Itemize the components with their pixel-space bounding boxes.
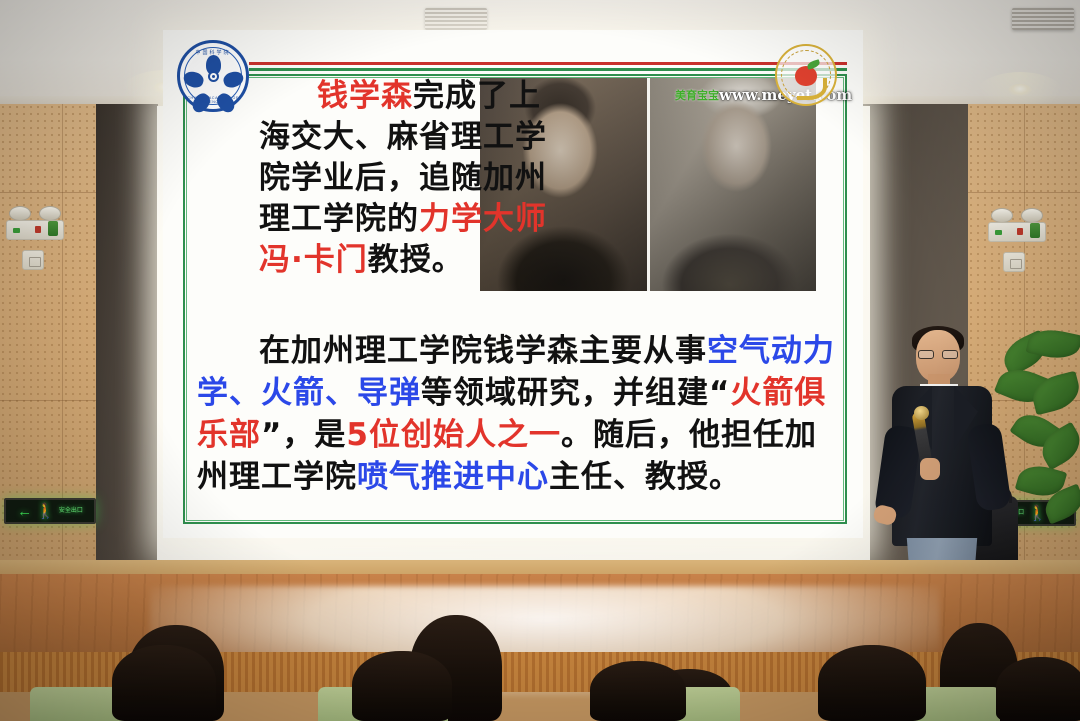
ceiling-vent [425, 8, 487, 30]
exit-sign-left-label: 安全出口 [59, 508, 83, 515]
slide-paragraph-2: 在加州理工学院钱学森主要从事空气动力学、火箭、导弹等领域研究，并组建“火箭俱乐部… [197, 330, 837, 498]
audience-head [590, 661, 686, 721]
p2-run-0: 在加州理工学院钱学森主要从事 [259, 333, 707, 369]
ceiling-downlight [1008, 84, 1032, 96]
p1-run-0: 钱学森 [317, 78, 413, 114]
p2-run-8: 主任、教授。 [549, 459, 741, 495]
exit-sign-left: ← 🚶 安全出口 [4, 498, 96, 524]
wall-socket-left [22, 250, 44, 270]
lecture-hall-scene: ← 🚶 安全出口 安全出口 🚶 → 中国科学院 [0, 0, 1080, 721]
slide-paragraph-1: 钱学森完成了上海交大、麻省理工学院学业后，追随加州理工学院的力学大师冯·卡门教授… [259, 76, 559, 281]
p2-run-2: 等领域研究，并组建“ [421, 375, 730, 411]
wall-socket-right [1003, 252, 1025, 272]
audience-head [112, 645, 216, 721]
microphone-head [914, 406, 929, 420]
academy-logo-bottom-text: CHINESE ACADEMY OF SCIENCES [180, 96, 246, 104]
left-dark-panel [96, 104, 158, 578]
presenter-hand [920, 458, 940, 480]
p2-run-4: ”，是 [261, 417, 346, 453]
slide-border-green-top [249, 68, 847, 71]
arrow-left-icon: ← [17, 504, 32, 519]
slide-border-red [249, 62, 847, 65]
emergency-light-right [988, 208, 1046, 242]
glasses-icon [918, 350, 958, 359]
audience-head [818, 645, 926, 721]
audience-head [996, 657, 1080, 721]
p2-run-5: 5位创始人之一 [346, 417, 561, 453]
audience-head [352, 651, 452, 721]
running-person-icon: 🚶 [36, 504, 55, 519]
p1-run-3: 教授。 [368, 242, 464, 278]
flower-atom-icon [192, 55, 234, 97]
p2-run-7: 喷气推进中心 [357, 459, 549, 495]
apple-badge-icon [775, 44, 837, 106]
academy-logo: 中国科学院 CHINESE ACADEMY OF SCIENCES [177, 40, 249, 112]
emergency-light-left [6, 206, 64, 240]
ceiling-vent [1012, 8, 1074, 30]
presentation-slide: 中国科学院 CHINESE ACADEMY OF SCIENCES 美育宝宝 w… [163, 30, 863, 538]
von-karman-photo [647, 78, 817, 291]
watermark-cn-text: 美育宝宝 [675, 87, 719, 103]
